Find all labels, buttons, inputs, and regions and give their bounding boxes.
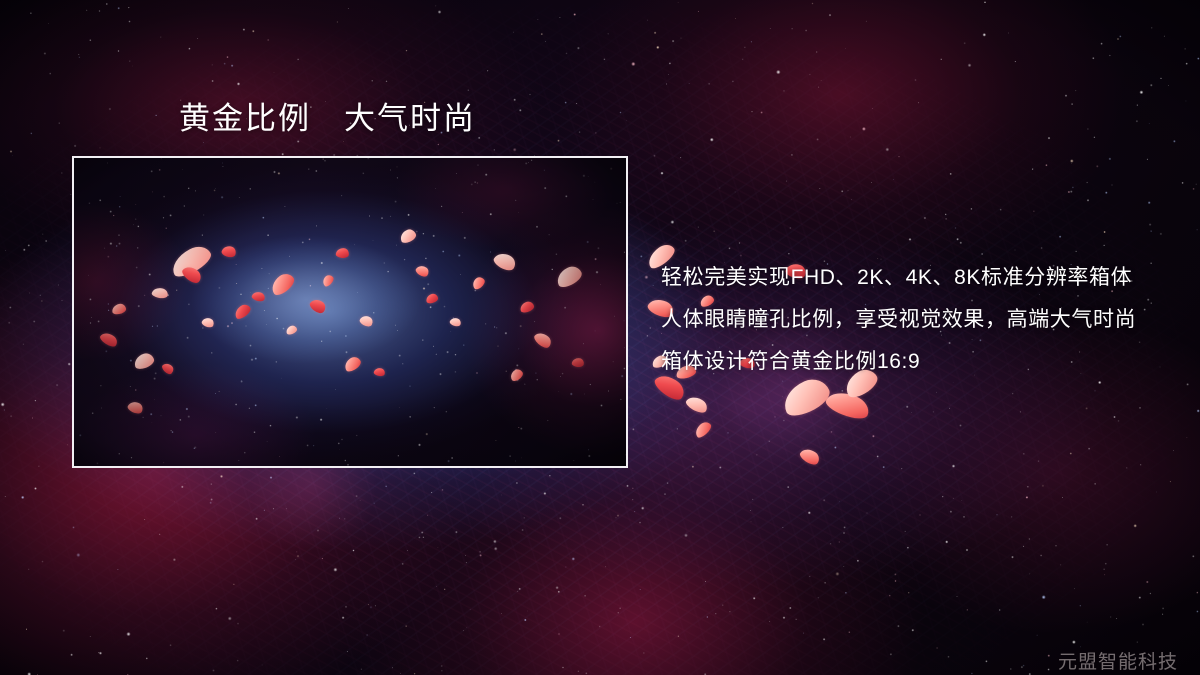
- flower-petal: [823, 387, 872, 424]
- body-line-1: 轻松完美实现FHD、2K、4K、8K标准分辨率箱体: [661, 257, 1191, 299]
- flower-petal: [201, 316, 215, 329]
- flower-petal: [554, 263, 585, 290]
- flower-petal: [492, 250, 519, 274]
- flower-petal: [308, 296, 328, 315]
- panel-petals: [74, 158, 626, 466]
- body-line-2: 人体眼睛瞳孔比例，享受视觉效果，高端大气时尚: [661, 299, 1191, 341]
- flower-petal: [425, 293, 439, 305]
- flower-petal: [285, 324, 298, 335]
- watermark: 元盟智能科技: [1058, 647, 1178, 674]
- flower-petal: [321, 273, 336, 288]
- flower-petal: [132, 351, 155, 370]
- page-title: 黄金比例 大气时尚: [179, 100, 476, 139]
- flower-petal: [414, 263, 430, 279]
- flower-petal: [180, 263, 204, 286]
- flower-petal: [798, 446, 822, 468]
- flower-petal: [335, 247, 349, 259]
- flower-petal: [268, 270, 298, 298]
- flower-petal: [398, 227, 417, 244]
- flower-petal: [342, 355, 363, 374]
- flower-petal: [251, 290, 266, 303]
- flower-petal: [111, 303, 127, 315]
- flower-petal: [571, 357, 584, 368]
- body-text-block: 轻松完美实现FHD、2K、4K、8K标准分辨率箱体 人体眼睛瞳孔比例，享受视觉效…: [661, 257, 1191, 383]
- flower-petal: [684, 393, 710, 415]
- flower-petal: [126, 399, 144, 415]
- flower-petal: [151, 286, 169, 299]
- flower-petal: [161, 361, 176, 376]
- flower-petal: [693, 420, 714, 440]
- body-line-3: 箱体设计符合黄金比例16:9: [661, 341, 1191, 383]
- flower-petal: [519, 300, 535, 313]
- flower-petal: [232, 302, 252, 321]
- flower-petal: [373, 367, 386, 377]
- flower-petal: [532, 330, 553, 351]
- flower-petal: [449, 316, 462, 327]
- flower-petal: [167, 241, 214, 280]
- flower-petal: [98, 330, 119, 349]
- flower-petal: [221, 244, 238, 259]
- flower-petal: [358, 314, 374, 329]
- flower-petal: [470, 275, 486, 291]
- flower-petal: [508, 367, 524, 382]
- image-panel: [72, 156, 628, 468]
- presentation-slide: 黄金比例 大气时尚 轻松完美实现FHD、2K、4K、8K标准分辨率箱体 人体眼睛…: [0, 0, 1200, 675]
